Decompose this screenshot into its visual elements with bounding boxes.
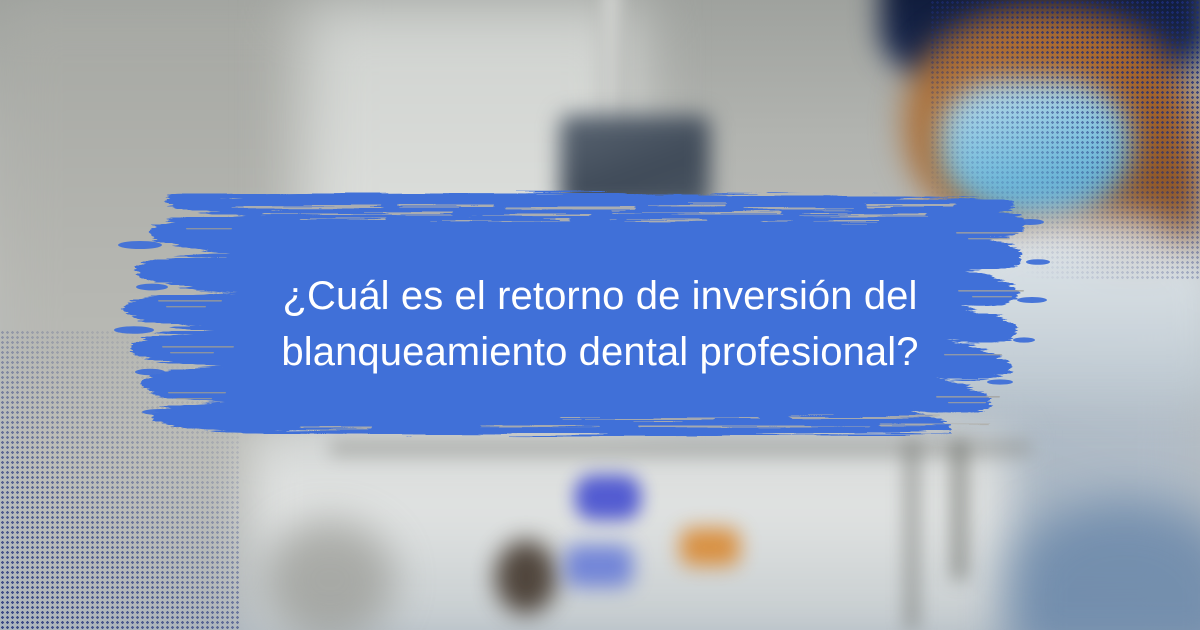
bg-blue-instrument — [575, 475, 641, 520]
headline-line-2: blanqueamiento dental profesional? — [0, 324, 1200, 380]
bg-wall-center — [300, 0, 640, 470]
headline-line-1: ¿Cuál es el retorno de inversión del — [0, 268, 1200, 324]
social-card-canvas: ¿Cuál es el retorno de inversión del bla… — [0, 0, 1200, 630]
bg-right-pole-a — [905, 440, 919, 630]
bg-blurred-object — [265, 520, 395, 630]
headline: ¿Cuál es el retorno de inversión del bla… — [0, 268, 1200, 380]
bg-blue-tray — [565, 545, 633, 587]
bg-orange-container — [680, 528, 740, 566]
bg-monitor — [560, 115, 710, 210]
halftone-dots-top-right — [930, 0, 1200, 280]
bg-counter-edge — [330, 440, 1030, 456]
bg-right-pole-b — [952, 440, 967, 580]
bg-dark-object — [495, 540, 557, 614]
